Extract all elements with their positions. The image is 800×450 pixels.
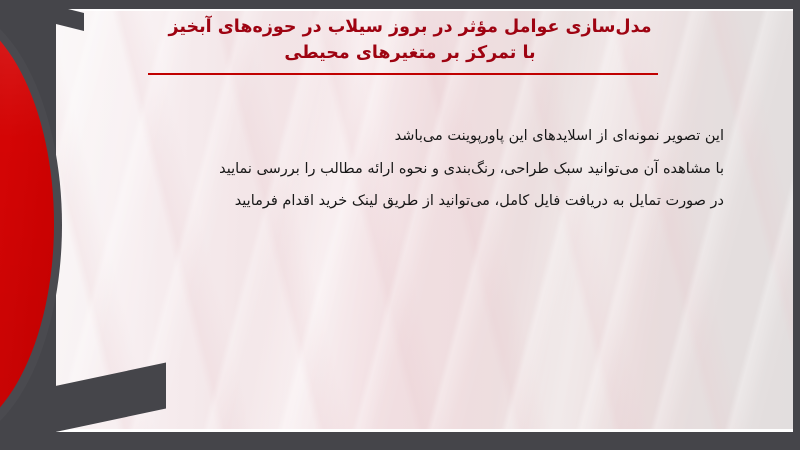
- paper-top-left-notch: [56, 9, 84, 31]
- frame-bar-right: [793, 0, 800, 450]
- frame-bar-top: [0, 0, 800, 9]
- slide-body-text: این تصویر نمونه‌ای از اسلایدهای این پاور…: [84, 120, 724, 218]
- body-line-3: در صورت تمایل به دریافت فایل کامل، می‌تو…: [84, 185, 724, 218]
- body-line-1: این تصویر نمونه‌ای از اسلایدهای این پاور…: [84, 120, 724, 153]
- slide-title: مدل‌سازی عوامل مؤثر در بروز سیلاب در حوز…: [90, 14, 730, 66]
- presentation-slide: مدل‌سازی عوامل مؤثر در بروز سیلاب در حوز…: [0, 0, 800, 450]
- body-line-2: با مشاهده آن می‌توانید سبک طراحی، رنگ‌بن…: [84, 153, 724, 186]
- title-line-1: مدل‌سازی عوامل مؤثر در بروز سیلاب در حوز…: [90, 14, 730, 40]
- frame-bar-bottom: [0, 432, 800, 450]
- paper-bottom-left-notch: [56, 362, 166, 432]
- title-underline-rule: [148, 73, 658, 75]
- title-line-2: با تمرکز بر متغیرهای محیطی: [90, 40, 730, 66]
